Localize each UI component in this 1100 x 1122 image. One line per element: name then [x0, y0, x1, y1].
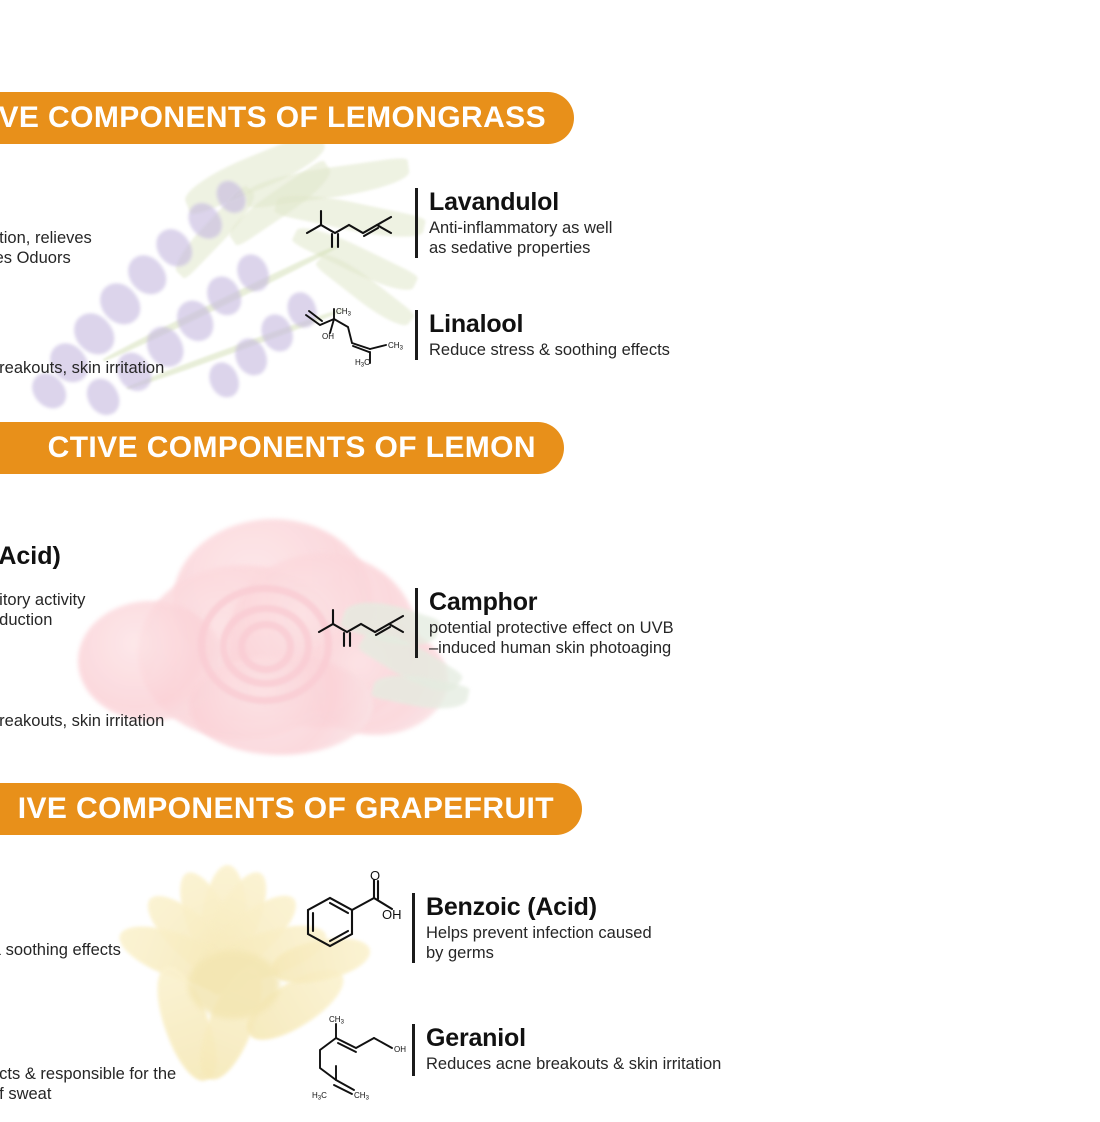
component-linalool-name: Linalool [429, 310, 670, 338]
component-camphor-desc: potential protective effect on UVB –indu… [429, 618, 674, 658]
svg-text:CH3: CH3 [336, 307, 352, 318]
molecule-benzoic-acid: O OH [300, 872, 404, 954]
left-entry-lemon-1-name: (Acid) [0, 542, 85, 570]
component-linalool: Linalool Reduce stress & soothing effect… [415, 310, 670, 360]
section-banner-grapefruit-label: IVE COMPONENTS OF GRAPEFRUIT [18, 792, 554, 826]
molecule-linalool: CH3 OH CH3 H3C [300, 305, 410, 367]
component-geraniol: Geraniol Reduces acne breakouts & skin i… [412, 1024, 721, 1074]
svg-text:OH: OH [394, 1045, 406, 1054]
section-banner-lemon: CTIVE COMPONENTS OF LEMON [0, 422, 564, 474]
left-entry-grapefruit-1: & soothing effects [0, 922, 121, 978]
svg-text:CH3: CH3 [388, 341, 404, 352]
component-lavandulol-name: Lavandulol [429, 188, 612, 216]
left-entry-lemon-1: (Acid) oitory activity oduction [0, 524, 85, 648]
component-benzoic-acid-desc: Helps prevent infection caused by germs [426, 923, 652, 963]
left-entry-lemongrass-1-desc: ation, relieves tes Oduors [0, 228, 92, 268]
left-entry-lemongrass-2: breakouts, skin irritation [0, 340, 164, 396]
component-geraniol-desc: Reduces acne breakouts & skin irritation [426, 1054, 721, 1074]
component-benzoic-acid: Benzoic (Acid) Helps prevent infection c… [412, 893, 652, 963]
left-entry-lemongrass-1: ation, relieves tes Oduors [0, 210, 92, 286]
svg-text:H3C: H3C [355, 358, 370, 369]
left-entry-grapefruit-1-desc: & soothing effects [0, 940, 121, 960]
component-geraniol-name: Geraniol [426, 1024, 721, 1052]
section-banner-lemongrass: VE COMPONENTS OF LEMONGRASS [0, 92, 574, 144]
component-lavandulol: Lavandulol Anti-inflammatory as well as … [415, 188, 612, 258]
left-entry-grapefruit-2-desc: ects & responsible for the of sweat [0, 1064, 176, 1104]
left-entry-lemongrass-2-desc: breakouts, skin irritation [0, 358, 164, 378]
left-entry-lemon-2: breakouts, skin irritation [0, 693, 164, 749]
left-entry-lemon-2-desc: breakouts, skin irritation [0, 711, 164, 731]
component-benzoic-acid-name: Benzoic (Acid) [426, 893, 652, 921]
component-linalool-desc: Reduce stress & soothing effects [429, 340, 670, 360]
section-banner-grapefruit: IVE COMPONENTS OF GRAPEFRUIT [0, 783, 582, 835]
section-banner-lemongrass-label: VE COMPONENTS OF LEMONGRASS [0, 101, 546, 135]
svg-text:O: O [370, 868, 380, 883]
section-banner-lemon-label: CTIVE COMPONENTS OF LEMON [48, 431, 536, 465]
component-lavandulol-desc: Anti-inflammatory as well as sedative pr… [429, 218, 612, 258]
svg-text:OH: OH [322, 332, 334, 341]
molecule-geraniol: CH3 OH H3C CH3 [310, 1006, 420, 1098]
component-camphor-name: Camphor [429, 588, 674, 616]
component-camphor: Camphor potential protective effect on U… [415, 588, 674, 658]
left-entry-lemon-1-desc: oitory activity oduction [0, 590, 85, 630]
molecule-camphor [315, 602, 415, 650]
svg-text:CH3: CH3 [329, 1015, 345, 1026]
left-entry-grapefruit-2: ects & responsible for the of sweat [0, 1046, 176, 1122]
molecule-lavandulol [303, 203, 403, 251]
svg-text:OH: OH [382, 907, 402, 922]
